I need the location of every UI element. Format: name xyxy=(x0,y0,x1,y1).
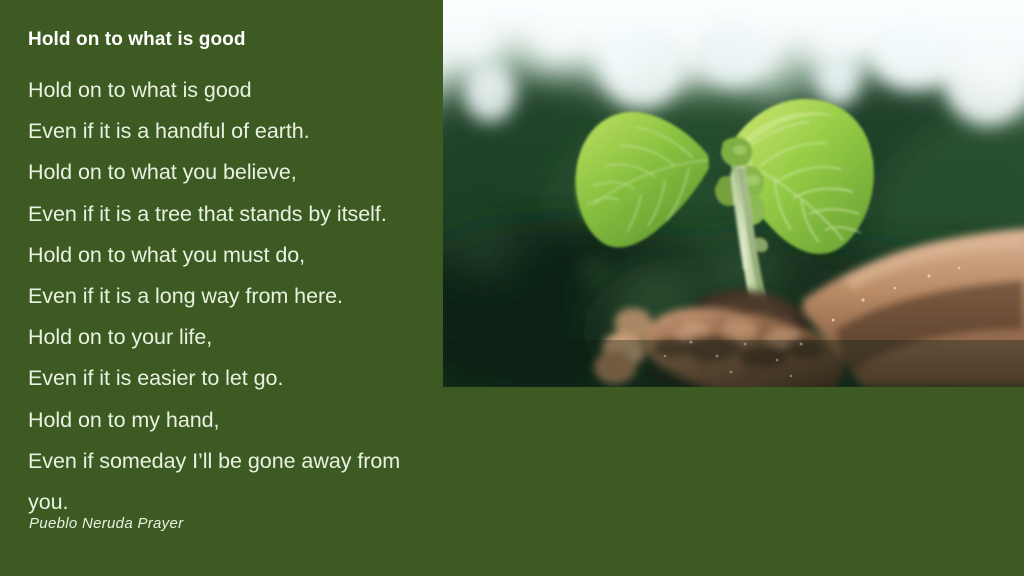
seedling-in-hand-photo xyxy=(443,0,1024,387)
poem-line: Hold on to what you believe, xyxy=(28,152,432,193)
text-panel: Hold on to what is good Hold on to what … xyxy=(0,0,443,576)
poem-line: Even if it is a tree that stands by itse… xyxy=(28,194,432,235)
poem-line: Hold on to my hand, xyxy=(28,400,432,441)
page-title: Hold on to what is good xyxy=(28,29,428,51)
slide-canvas: Hold on to what is good Hold on to what … xyxy=(0,0,1024,576)
poem-body: Hold on to what is good Even if it is a … xyxy=(28,70,432,523)
poem-line: Even if it is easier to let go. xyxy=(28,358,432,399)
attribution-text: Pueblo Neruda Prayer xyxy=(29,515,183,532)
seedling-photo-artwork xyxy=(443,0,1024,387)
poem-line: Even if it is a handful of earth. xyxy=(28,111,432,152)
poem-line: Hold on to what is good xyxy=(28,70,432,111)
poem-line: Even if it is a long way from here. xyxy=(28,276,432,317)
poem-line: Even if someday I’ll be gone away from y… xyxy=(28,441,432,523)
poem-line: Hold on to your life, xyxy=(28,317,432,358)
poem-line: Hold on to what you must do, xyxy=(28,235,432,276)
